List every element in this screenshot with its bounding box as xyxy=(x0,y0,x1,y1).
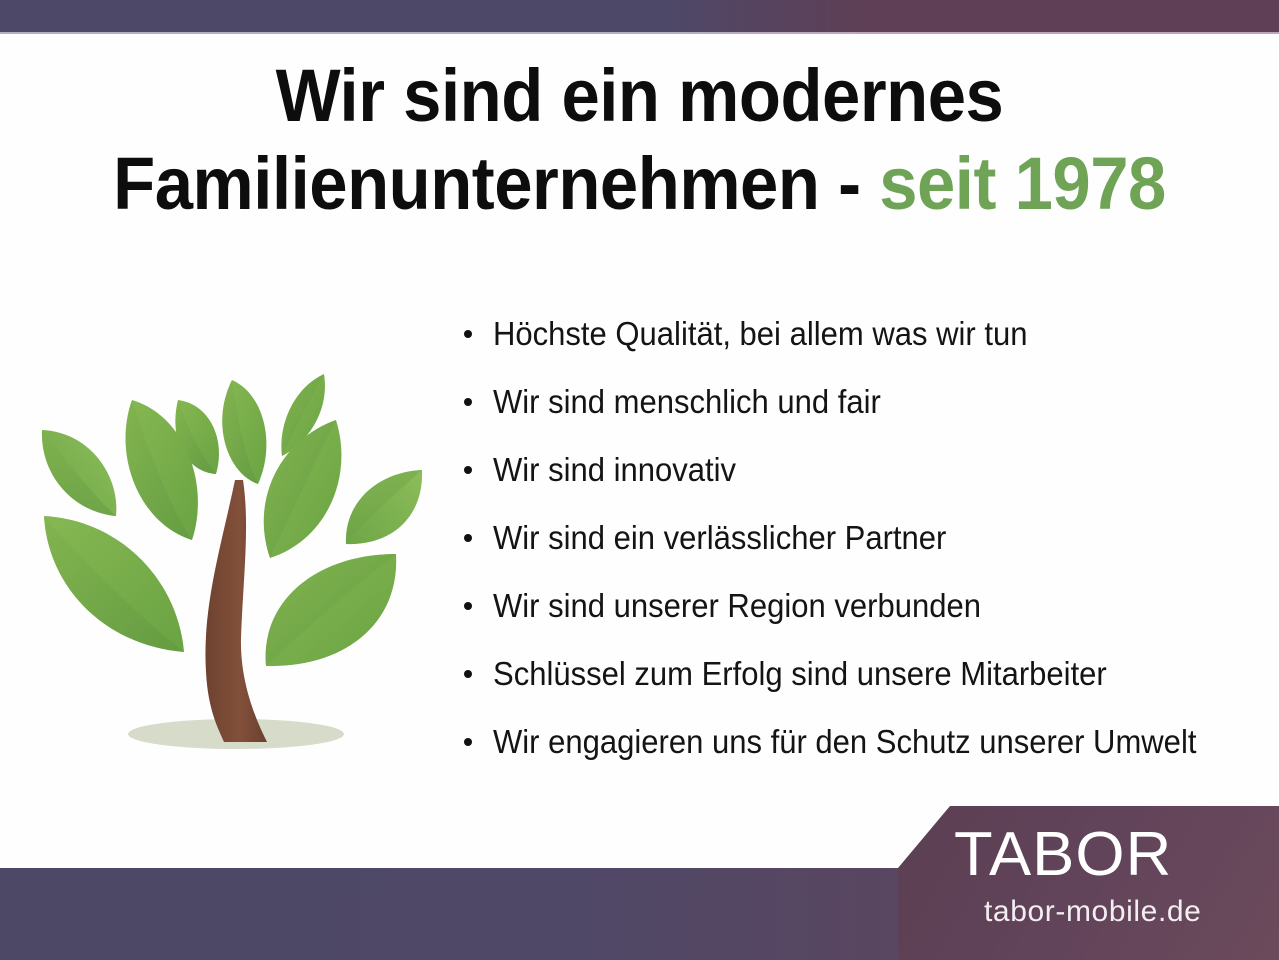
list-item: Wir sind menschlich und fair xyxy=(455,368,1265,436)
title-accent-since-year: seit 1978 xyxy=(879,142,1166,225)
title-line-2: Familienunternehmen - seit 1978 xyxy=(45,140,1234,228)
list-item: Schlüssel zum Erfolg sind unsere Mitarbe… xyxy=(455,640,1265,708)
bullet-dot-icon xyxy=(464,534,472,542)
list-item: Wir sind innovativ xyxy=(455,436,1265,504)
list-item-label: Wir sind ein verlässlicher Partner xyxy=(493,518,946,558)
list-item-label: Wir sind menschlich und fair xyxy=(493,382,881,422)
page-title: Wir sind ein modernes Familienunternehme… xyxy=(0,52,1279,228)
top-decorative-bar xyxy=(0,0,1279,32)
bullet-dot-icon xyxy=(464,330,472,338)
title-line-2-main: Familienunternehmen - xyxy=(113,142,879,225)
bullet-dot-icon xyxy=(464,398,472,406)
list-item-label: Schlüssel zum Erfolg sind unsere Mitarbe… xyxy=(493,654,1107,694)
tree-trunk xyxy=(205,480,267,742)
bullet-dot-icon xyxy=(464,738,472,746)
slide: Wir sind ein modernes Familienunternehme… xyxy=(0,0,1279,960)
tabor-wordmark: TABOR xyxy=(954,820,1172,890)
top-bar-hairline xyxy=(0,32,1279,34)
list-item-label: Wir sind unserer Region verbunden xyxy=(493,586,981,626)
brand-website-url: tabor-mobile.de xyxy=(984,894,1201,930)
list-item: Wir engagieren uns für den Schutz unsere… xyxy=(455,708,1265,776)
list-item-label: Wir sind innovativ xyxy=(493,450,736,490)
list-item-label: Höchste Qualität, bei allem was wir tun xyxy=(493,314,1027,354)
tree-icon xyxy=(28,332,440,760)
title-line-1: Wir sind ein modernes xyxy=(45,52,1234,140)
bullet-dot-icon xyxy=(464,466,472,474)
list-item: Höchste Qualität, bei allem was wir tun xyxy=(455,300,1265,368)
value-bullet-list: Höchste Qualität, bei allem was wir tun … xyxy=(455,300,1265,776)
list-item: Wir sind unserer Region verbunden xyxy=(455,572,1265,640)
list-item-label: Wir engagieren uns für den Schutz unsere… xyxy=(493,722,1196,762)
list-item: Wir sind ein verlässlicher Partner xyxy=(455,504,1265,572)
brand-panel: TABOR tabor-mobile.de xyxy=(898,806,1279,960)
bullet-dot-icon xyxy=(464,670,472,678)
bullet-dot-icon xyxy=(464,602,472,610)
